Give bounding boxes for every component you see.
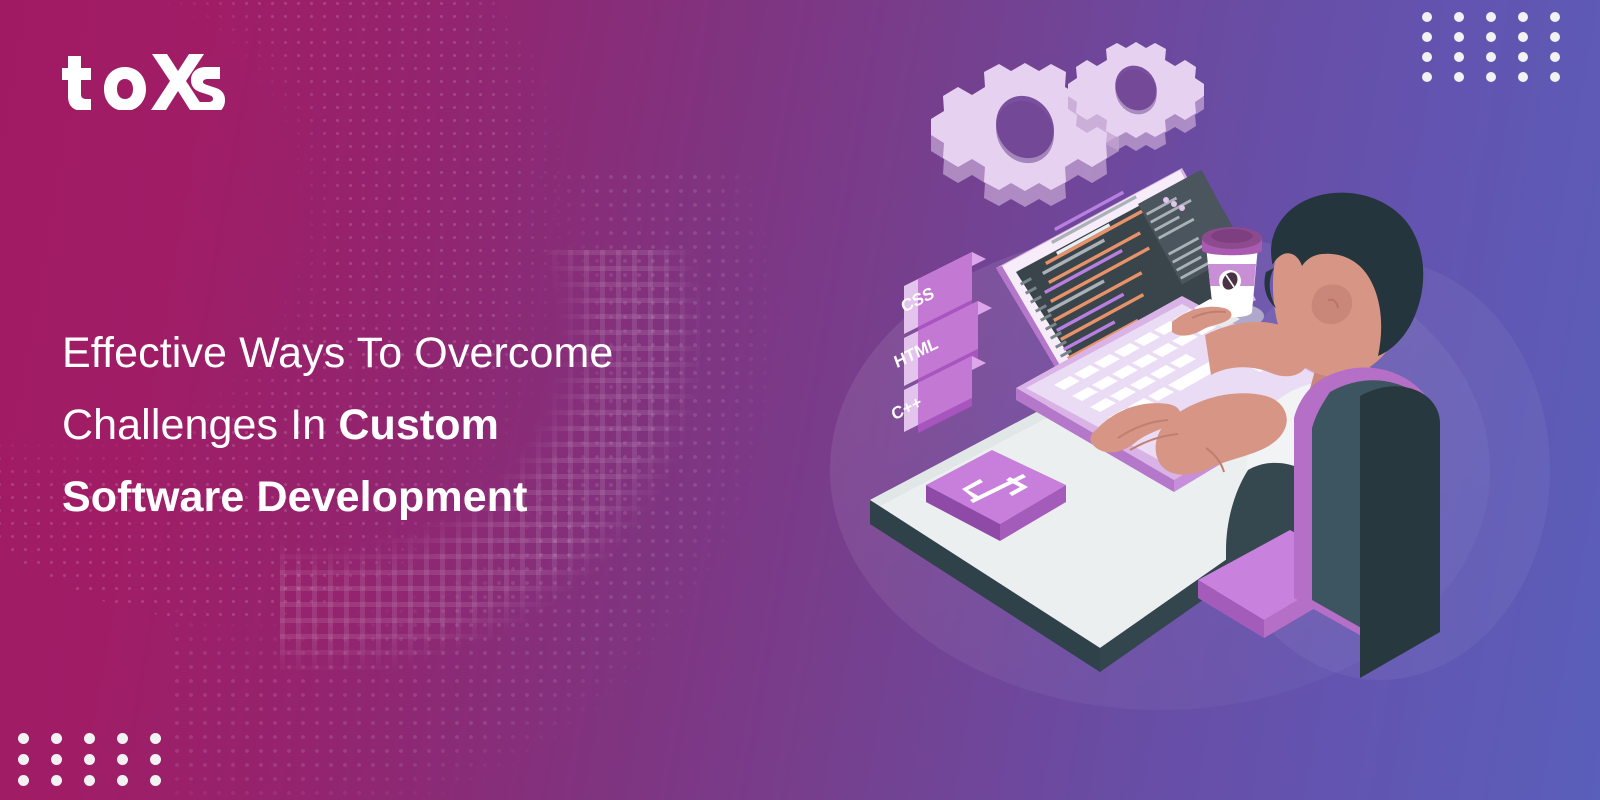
headline-line-3: Software Development	[62, 461, 842, 533]
dot	[18, 754, 29, 765]
headline-line-1: Effective Ways To Overcome	[62, 317, 842, 389]
brand-logo[interactable]: toXSL	[62, 48, 232, 110]
dot	[150, 775, 161, 786]
dot-grid-bottom-left	[18, 733, 161, 786]
dot	[51, 733, 62, 744]
dot	[84, 775, 95, 786]
marketing-banner: toXSL Effective Ways To Overcome Challen…	[0, 0, 1600, 800]
headline-line-2: Challenges In Custom	[62, 389, 842, 461]
dot	[84, 754, 95, 765]
dot	[117, 775, 128, 786]
hero-illustration: CSS HTML C++	[820, 0, 1600, 800]
dot	[18, 733, 29, 744]
dot	[18, 775, 29, 786]
dot	[117, 754, 128, 765]
toxsl-logo-mark	[62, 48, 232, 110]
page-title: Effective Ways To Overcome Challenges In…	[62, 317, 842, 533]
dot	[51, 775, 62, 786]
headline-line-2-light: Challenges In	[62, 401, 338, 449]
dot	[150, 733, 161, 744]
dot	[84, 733, 95, 744]
dot	[51, 754, 62, 765]
headline-line-2-bold: Custom	[338, 401, 499, 449]
dot	[150, 754, 161, 765]
dot	[117, 733, 128, 744]
